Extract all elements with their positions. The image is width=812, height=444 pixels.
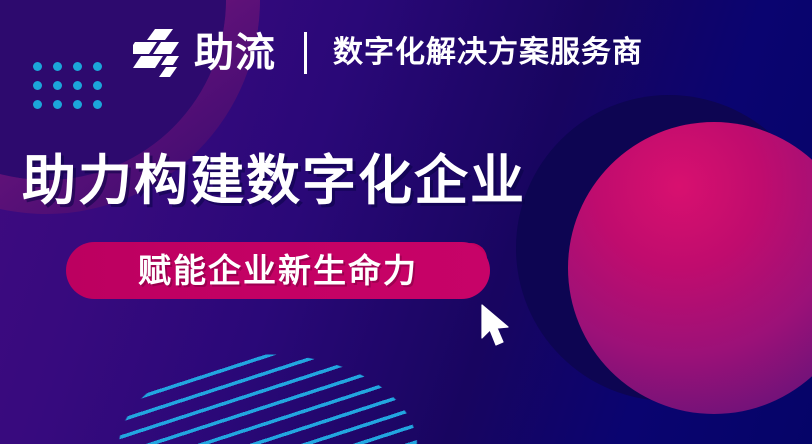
brand-header: 助流 数字化解决方案服务商 bbox=[133, 24, 643, 82]
grid-dot bbox=[93, 62, 102, 71]
grid-dot bbox=[53, 81, 62, 90]
grid-dot bbox=[33, 62, 42, 71]
mouse-cursor-icon bbox=[480, 303, 514, 351]
zhuliu-logo-mark-icon bbox=[133, 29, 185, 77]
header-divider bbox=[304, 32, 307, 74]
grid-dot bbox=[33, 100, 42, 109]
cyan-dot-grid-decoration bbox=[33, 62, 113, 119]
grid-dot bbox=[73, 81, 82, 90]
brand-tagline: 数字化解决方案服务商 bbox=[333, 38, 643, 68]
grid-dot bbox=[53, 100, 62, 109]
grid-dot bbox=[53, 62, 62, 71]
hero-headline: 助力构建数字化企业 bbox=[22, 152, 526, 210]
grid-dot bbox=[93, 100, 102, 109]
grid-dot bbox=[33, 81, 42, 90]
grid-dot bbox=[73, 100, 82, 109]
grid-dot bbox=[73, 62, 82, 71]
cta-pill-label: 赋能企业新生命力 bbox=[138, 254, 418, 287]
promo-banner: 助流 数字化解决方案服务商 助力构建数字化企业 赋能企业新生命力 bbox=[0, 0, 812, 444]
cyan-stripe-arc-decoration bbox=[118, 352, 418, 444]
grid-dot bbox=[93, 81, 102, 90]
brand-wordmark: 助流 bbox=[194, 33, 276, 73]
cta-pill-button[interactable]: 赋能企业新生命力 bbox=[66, 242, 490, 299]
